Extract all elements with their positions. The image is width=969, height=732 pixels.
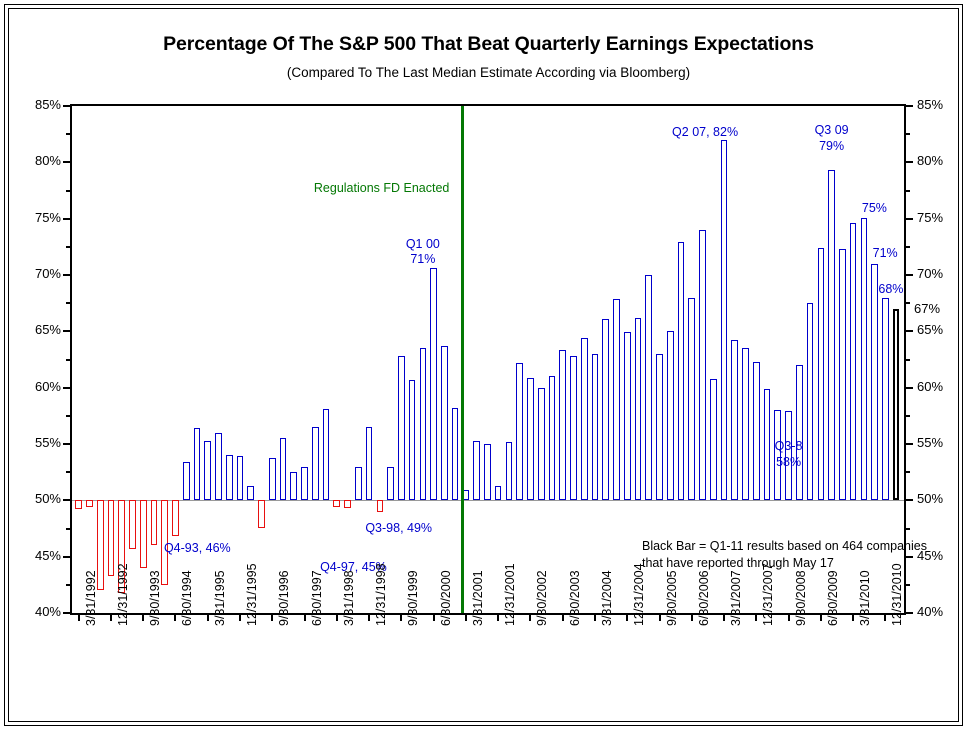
- x-axis-label: 12/31/2001: [503, 563, 517, 626]
- bar-3/31/1996: [247, 486, 254, 501]
- x-tick: [562, 614, 564, 621]
- bar-6/30/2007: [731, 340, 738, 500]
- bar-3/31/2006: [678, 242, 685, 500]
- bar-9/30/2010: [871, 264, 878, 501]
- x-axis-label: 3/31/1998: [342, 570, 356, 626]
- annotation-q3-08-line2: 58%: [729, 455, 849, 470]
- bar-6/30/1996: [258, 500, 265, 528]
- y-axis-label-left: 50%: [15, 491, 61, 506]
- x-axis-label: 9/30/1993: [148, 570, 162, 626]
- bar-9/30/1996: [269, 458, 276, 501]
- y-tick-minor: [905, 415, 910, 417]
- bar-12/31/2003: [581, 338, 588, 500]
- bar-6/30/1992: [86, 500, 93, 507]
- x-tick: [400, 614, 402, 621]
- y-axis-label-right: 85%: [917, 97, 943, 112]
- bar-3/31/2009: [807, 303, 814, 500]
- bar-9/30/1993: [140, 500, 147, 568]
- y-axis-label-left: 60%: [15, 379, 61, 394]
- x-axis-label: 12/31/2007: [761, 563, 775, 626]
- annotation-q2-07: Q2 07, 82%: [672, 125, 738, 140]
- y-tick-major: [63, 330, 71, 332]
- annotation-67pct: 67%: [914, 301, 940, 316]
- x-tick: [368, 614, 370, 621]
- bar-9/30/1995: [226, 455, 233, 500]
- black-bar-footnote-line1: Black Bar = Q1-11 results based on 464 c…: [642, 538, 927, 555]
- regulation-fd-line: [461, 106, 464, 613]
- bar-3/31/2007: [721, 140, 728, 501]
- x-axis: [70, 613, 906, 615]
- y-tick-major: [905, 218, 913, 220]
- bar-6/30/1995: [215, 433, 222, 501]
- bar-3/31/1995: [204, 441, 211, 501]
- annotation-q3-09-line1: Q3 09: [772, 123, 892, 138]
- bar-3/31/2010: [850, 223, 857, 500]
- bar-6/30/1998: [344, 500, 351, 508]
- bar-9/30/1999: [398, 356, 405, 500]
- x-tick: [336, 614, 338, 621]
- bar-3/31/2011: [893, 309, 900, 501]
- bar-6/30/1999: [387, 467, 394, 501]
- bar-3/31/2000: [420, 348, 427, 500]
- y-tick-minor: [905, 302, 910, 304]
- x-tick: [529, 614, 531, 621]
- bar-3/31/2004: [592, 354, 599, 500]
- chart-title: Percentage Of The S&P 500 That Beat Quar…: [9, 33, 968, 56]
- black-bar-footnote: Black Bar = Q1-11 results based on 464 c…: [642, 538, 927, 572]
- y-tick-minor: [905, 359, 910, 361]
- bar-12/31/2006: [710, 379, 717, 501]
- x-axis-label: 3/31/2001: [471, 570, 485, 626]
- bar-12/31/2004: [624, 332, 631, 500]
- bar-12/31/2005: [667, 331, 674, 500]
- y-tick-major: [905, 499, 913, 501]
- bar-3/31/2003: [549, 376, 556, 500]
- y-tick-minor: [66, 302, 71, 304]
- y-tick-major: [63, 218, 71, 220]
- x-tick: [110, 614, 112, 621]
- bar-6/30/1994: [172, 500, 179, 536]
- x-axis-label: 12/31/1992: [116, 563, 130, 626]
- bar-12/31/2000: [452, 408, 459, 500]
- x-tick: [433, 614, 435, 621]
- y-axis-label-left: 55%: [15, 435, 61, 450]
- x-tick: [465, 614, 467, 621]
- y-tick-minor: [66, 190, 71, 192]
- chart-subtitle: (Compared To The Last Median Estimate Ac…: [9, 65, 968, 80]
- x-tick: [820, 614, 822, 621]
- y-tick-major: [905, 330, 913, 332]
- y-axis-label-right: 55%: [917, 435, 943, 450]
- bar-12/31/2010: [882, 298, 889, 501]
- y-tick-major: [63, 105, 71, 107]
- annotation-q1-00-line1: Q1 00: [363, 237, 483, 252]
- x-tick: [78, 614, 80, 621]
- y-axis-label-left: 40%: [15, 604, 61, 619]
- bar-6/30/2004: [602, 319, 609, 500]
- x-tick: [788, 614, 790, 621]
- annotation-68pct: 68%: [878, 282, 903, 297]
- y-tick-minor: [66, 359, 71, 361]
- bar-3/31/1998: [333, 500, 340, 507]
- y-tick-minor: [66, 528, 71, 530]
- annotation-q3-98: Q3-98, 49%: [365, 521, 432, 536]
- bar-12/31/2001: [495, 486, 502, 501]
- regulation-fd-label: Regulations FD Enacted: [314, 181, 450, 195]
- y-tick-minor: [66, 471, 71, 473]
- bar-3/31/1997: [290, 472, 297, 500]
- bar-9/30/2003: [570, 356, 577, 500]
- bar-9/30/1994: [183, 462, 190, 500]
- x-axis-label: 3/31/2007: [729, 570, 743, 626]
- x-axis-label: 6/30/2009: [826, 570, 840, 626]
- x-tick: [852, 614, 854, 621]
- annotation-71pct: 71%: [873, 246, 898, 261]
- chart-inner-frame: Percentage Of The S&P 500 That Beat Quar…: [8, 8, 959, 722]
- y-axis-label-left: 85%: [15, 97, 61, 112]
- y-axis-label-right: 65%: [917, 322, 943, 337]
- y-axis-label-left: 70%: [15, 266, 61, 281]
- bar-3/31/2005: [635, 318, 642, 501]
- bar-12/31/2008: [796, 365, 803, 500]
- y-tick-minor: [905, 584, 910, 586]
- x-axis-label: 9/30/2005: [665, 570, 679, 626]
- x-axis-label: 9/30/1996: [277, 570, 291, 626]
- y-axis-label-left: 75%: [15, 210, 61, 225]
- x-axis-label: 12/31/1995: [245, 563, 259, 626]
- y-tick-minor: [905, 133, 910, 135]
- bar-6/30/1993: [129, 500, 136, 548]
- annotation-75pct: 75%: [862, 201, 887, 216]
- x-axis-label: 6/30/1994: [180, 570, 194, 626]
- x-axis-label: 6/30/2003: [568, 570, 582, 626]
- x-tick: [174, 614, 176, 621]
- bar-12/31/1995: [237, 456, 244, 500]
- bar-12/31/2002: [538, 388, 545, 501]
- annotation-q3-09-line2: 79%: [772, 139, 892, 154]
- bar-9/30/2006: [699, 230, 706, 500]
- bar-12/31/1998: [366, 427, 373, 500]
- x-axis-label: 3/31/1995: [213, 570, 227, 626]
- y-tick-major: [63, 443, 71, 445]
- x-axis-label: 9/30/1999: [406, 570, 420, 626]
- x-tick: [142, 614, 144, 621]
- x-axis-label: 3/31/1992: [84, 570, 98, 626]
- bar-9/30/1997: [312, 427, 319, 500]
- x-axis-label: 3/31/2004: [600, 570, 614, 626]
- y-tick-minor: [66, 133, 71, 135]
- annotation-q1-00-line2: 71%: [363, 252, 483, 267]
- bar-6/30/2002: [516, 363, 523, 500]
- y-axis-label-right: 60%: [917, 379, 943, 394]
- bar-9/30/1998: [355, 467, 362, 501]
- y-tick-major: [63, 387, 71, 389]
- x-tick: [271, 614, 273, 621]
- bar-12/31/2007: [753, 362, 760, 501]
- bar-9/30/2007: [742, 348, 749, 500]
- y-tick-minor: [905, 528, 910, 530]
- baseline-50: [72, 500, 904, 501]
- x-axis-label: 9/30/2002: [535, 570, 549, 626]
- y-tick-major: [63, 499, 71, 501]
- x-tick: [884, 614, 886, 621]
- y-axis-label-left: 65%: [15, 322, 61, 337]
- y-axis-label-right: 80%: [917, 153, 943, 168]
- x-tick: [723, 614, 725, 621]
- y-axis-label-right: 50%: [917, 491, 943, 506]
- bar-3/31/2002: [506, 442, 513, 501]
- y-axis-label-left: 80%: [15, 153, 61, 168]
- chart-outer-frame: Percentage Of The S&P 500 That Beat Quar…: [4, 4, 963, 726]
- x-tick: [691, 614, 693, 621]
- bar-9/30/2000: [441, 346, 448, 500]
- x-axis-label: 6/30/2006: [697, 570, 711, 626]
- y-tick-minor: [66, 246, 71, 248]
- x-tick: [755, 614, 757, 621]
- black-bar-footnote-line2: that have reported through May 17: [642, 555, 927, 572]
- bar-9/30/2002: [527, 378, 534, 501]
- plot-top-border: [70, 104, 906, 106]
- bar-3/31/1992: [75, 500, 82, 509]
- x-tick: [207, 614, 209, 621]
- x-axis-label: 9/30/2008: [794, 570, 808, 626]
- bar-6/30/2005: [645, 275, 652, 500]
- x-axis-label: 12/31/2004: [632, 563, 646, 626]
- y-tick-major: [905, 274, 913, 276]
- x-tick: [626, 614, 628, 621]
- bar-6/30/2010: [861, 218, 868, 501]
- y-tick-minor: [905, 471, 910, 473]
- y-tick-major: [905, 612, 913, 614]
- y-axis-label-right: 75%: [917, 210, 943, 225]
- bar-3/31/1999: [377, 500, 384, 511]
- bar-6/30/2003: [559, 350, 566, 500]
- bar-6/30/2000: [430, 268, 437, 500]
- x-tick: [497, 614, 499, 621]
- bar-12/31/1997: [323, 409, 330, 500]
- y-tick-major: [63, 612, 71, 614]
- annotation-q4-93: Q4-93, 46%: [164, 541, 231, 556]
- x-axis-label: 6/30/1997: [310, 570, 324, 626]
- y-tick-major: [905, 443, 913, 445]
- plot-area: 40%45%50%55%60%65%70%75%80%85% 40%45%50%…: [72, 106, 904, 613]
- y-tick-minor: [66, 584, 71, 586]
- bar-9/30/2005: [656, 354, 663, 500]
- x-tick: [659, 614, 661, 621]
- y-tick-major: [905, 105, 913, 107]
- bar-12/31/1999: [409, 380, 416, 501]
- y-tick-major: [905, 161, 913, 163]
- y-axis-label-left: 45%: [15, 548, 61, 563]
- bar-6/30/1997: [301, 467, 308, 501]
- y-axis-label-right: 40%: [917, 604, 943, 619]
- bar-12/31/1996: [280, 438, 287, 500]
- annotation-q3-08-line1: Q3-8: [729, 439, 849, 454]
- bar-12/31/1993: [151, 500, 158, 545]
- y-tick-major: [905, 387, 913, 389]
- x-axis-label: 3/31/2010: [858, 570, 872, 626]
- y-tick-minor: [905, 190, 910, 192]
- y-tick-major: [63, 556, 71, 558]
- bar-6/30/2006: [688, 298, 695, 501]
- x-axis-label: 12/31/2010: [890, 563, 904, 626]
- bar-12/31/1994: [194, 428, 201, 500]
- x-axis-label: 12/31/1998: [374, 563, 388, 626]
- x-axis-label: 6/30/2000: [439, 570, 453, 626]
- x-tick: [304, 614, 306, 621]
- bar-6/30/2001: [473, 441, 480, 501]
- y-axis-label-right: 70%: [917, 266, 943, 281]
- x-tick: [239, 614, 241, 621]
- y-tick-minor: [66, 415, 71, 417]
- y-tick-minor: [905, 246, 910, 248]
- bar-9/30/2004: [613, 299, 620, 501]
- bar-12/31/1992: [108, 500, 115, 575]
- y-tick-major: [63, 161, 71, 163]
- y-tick-major: [63, 274, 71, 276]
- x-tick: [594, 614, 596, 621]
- bar-9/30/2001: [484, 444, 491, 500]
